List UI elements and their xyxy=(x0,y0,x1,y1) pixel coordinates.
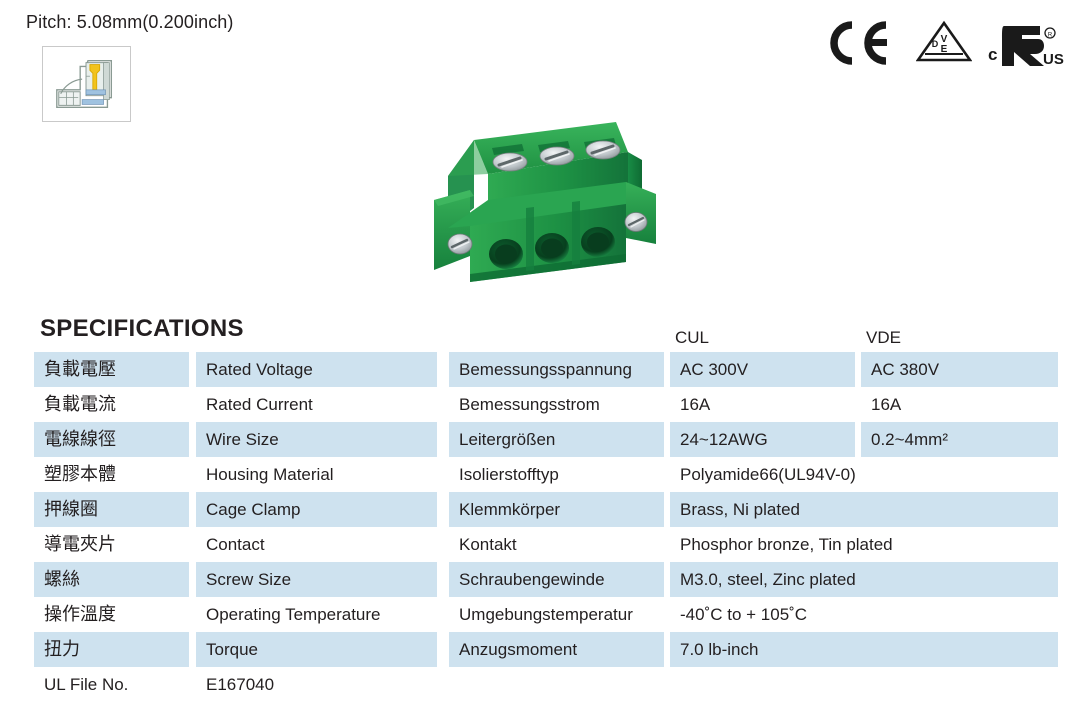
svg-text:D: D xyxy=(932,39,939,49)
spec-label-de: Isolierstofftyp xyxy=(449,457,664,492)
spec-label-zh: 扭力 xyxy=(34,632,189,667)
table-row: 電線線徑 Wire Size Leitergrößen 24~12AWG 0.2… xyxy=(0,422,1068,457)
spec-value-cul: 16A xyxy=(670,387,855,422)
spec-value-vde: 0.2~4mm² xyxy=(861,422,1058,457)
svg-text:US: US xyxy=(1043,51,1064,68)
table-row-ul-file: UL File No. E167040 xyxy=(0,667,1068,702)
table-row: 螺絲 Screw Size Schraubengewinde M3.0, ste… xyxy=(0,562,1068,597)
table-row: 押線圈 Cage Clamp Klemmkörper Brass, Ni pla… xyxy=(0,492,1068,527)
spec-label-de: Leitergrößen xyxy=(449,422,664,457)
table-row: 扭力 Torque Anzugsmoment 7.0 lb-inch xyxy=(0,632,1068,667)
spec-label-zh: 螺絲 xyxy=(34,562,189,597)
ce-mark-icon xyxy=(826,20,888,66)
spec-label-en: Wire Size xyxy=(196,422,437,457)
ul-file-value: E167040 xyxy=(196,667,437,702)
table-row: 塑膠本體 Housing Material Isolierstofftyp Po… xyxy=(0,457,1068,492)
column-header-vde: VDE xyxy=(866,328,901,348)
spec-label-zh: 負載電流 xyxy=(34,387,189,422)
column-header-cul: CUL xyxy=(675,328,709,348)
cert-column-headers: CUL VDE xyxy=(0,328,1068,350)
spec-label-de: Anzugsmoment xyxy=(449,632,664,667)
spec-label-en: Rated Current xyxy=(196,387,437,422)
spec-value-shared: Polyamide66(UL94V-0) xyxy=(670,457,1058,492)
product-photo-terminal-block xyxy=(430,104,662,292)
table-row: 負載電流 Rated Current Bemessungsstrom 16A 1… xyxy=(0,387,1068,422)
svg-text:c: c xyxy=(988,45,997,64)
cul-us-mark-icon: c R US xyxy=(986,20,1064,70)
spec-label-zh: 導電夾片 xyxy=(34,527,189,562)
spec-label-de: Bemessungsspannung xyxy=(449,352,664,387)
spec-label-en: Operating Temperature xyxy=(196,597,437,632)
spec-label-zh: 塑膠本體 xyxy=(34,457,189,492)
spec-value-cul: 24~12AWG xyxy=(670,422,855,457)
ul-file-label: UL File No. xyxy=(34,667,189,702)
spec-label-de: Kontakt xyxy=(449,527,664,562)
spec-value-vde: 16A xyxy=(861,387,1058,422)
spec-label-zh: 電線線徑 xyxy=(34,422,189,457)
table-row: 負載電壓 Rated Voltage Bemessungsspannung AC… xyxy=(0,352,1068,387)
table-row: 操作溫度 Operating Temperature Umgebungstemp… xyxy=(0,597,1068,632)
spec-value-shared: M3.0, steel, Zinc plated xyxy=(670,562,1058,597)
spec-label-en: Torque xyxy=(196,632,437,667)
spec-value-shared: Phosphor bronze, Tin plated xyxy=(670,527,1058,562)
svg-text:E: E xyxy=(941,44,948,55)
spec-label-zh: 操作溫度 xyxy=(34,597,189,632)
spec-value-vde: AC 380V xyxy=(861,352,1058,387)
spec-value-shared: -40˚C to + 105˚C xyxy=(670,597,1058,632)
spec-label-de: Umgebungstemperatur xyxy=(449,597,664,632)
spec-label-de: Klemmkörper xyxy=(449,492,664,527)
spec-label-en: Contact xyxy=(196,527,437,562)
svg-text:R: R xyxy=(1048,33,1053,39)
spec-value-shared: 7.0 lb-inch xyxy=(670,632,1058,667)
spec-label-en: Housing Material xyxy=(196,457,437,492)
specifications-table: 負載電壓 Rated Voltage Bemessungsspannung AC… xyxy=(0,352,1068,702)
spec-label-de: Bemessungsstrom xyxy=(449,387,664,422)
vde-mark-icon: V E D xyxy=(916,20,972,66)
table-row: 導電夾片 Contact Kontakt Phosphor bronze, Ti… xyxy=(0,527,1068,562)
spec-value-shared: Brass, Ni plated xyxy=(670,492,1058,527)
spec-label-zh: 負載電壓 xyxy=(34,352,189,387)
spec-label-en: Rated Voltage xyxy=(196,352,437,387)
spec-value-cul: AC 300V xyxy=(670,352,855,387)
certification-marks: V E D c R US xyxy=(818,20,1058,76)
spec-label-de: Schraubengewinde xyxy=(449,562,664,597)
spec-label-zh: 押線圈 xyxy=(34,492,189,527)
spec-label-en: Screw Size xyxy=(196,562,437,597)
pitch-label: Pitch: 5.08mm(0.200inch) xyxy=(26,12,234,33)
spec-label-en: Cage Clamp xyxy=(196,492,437,527)
connector-cross-section-icon[interactable] xyxy=(42,46,131,122)
